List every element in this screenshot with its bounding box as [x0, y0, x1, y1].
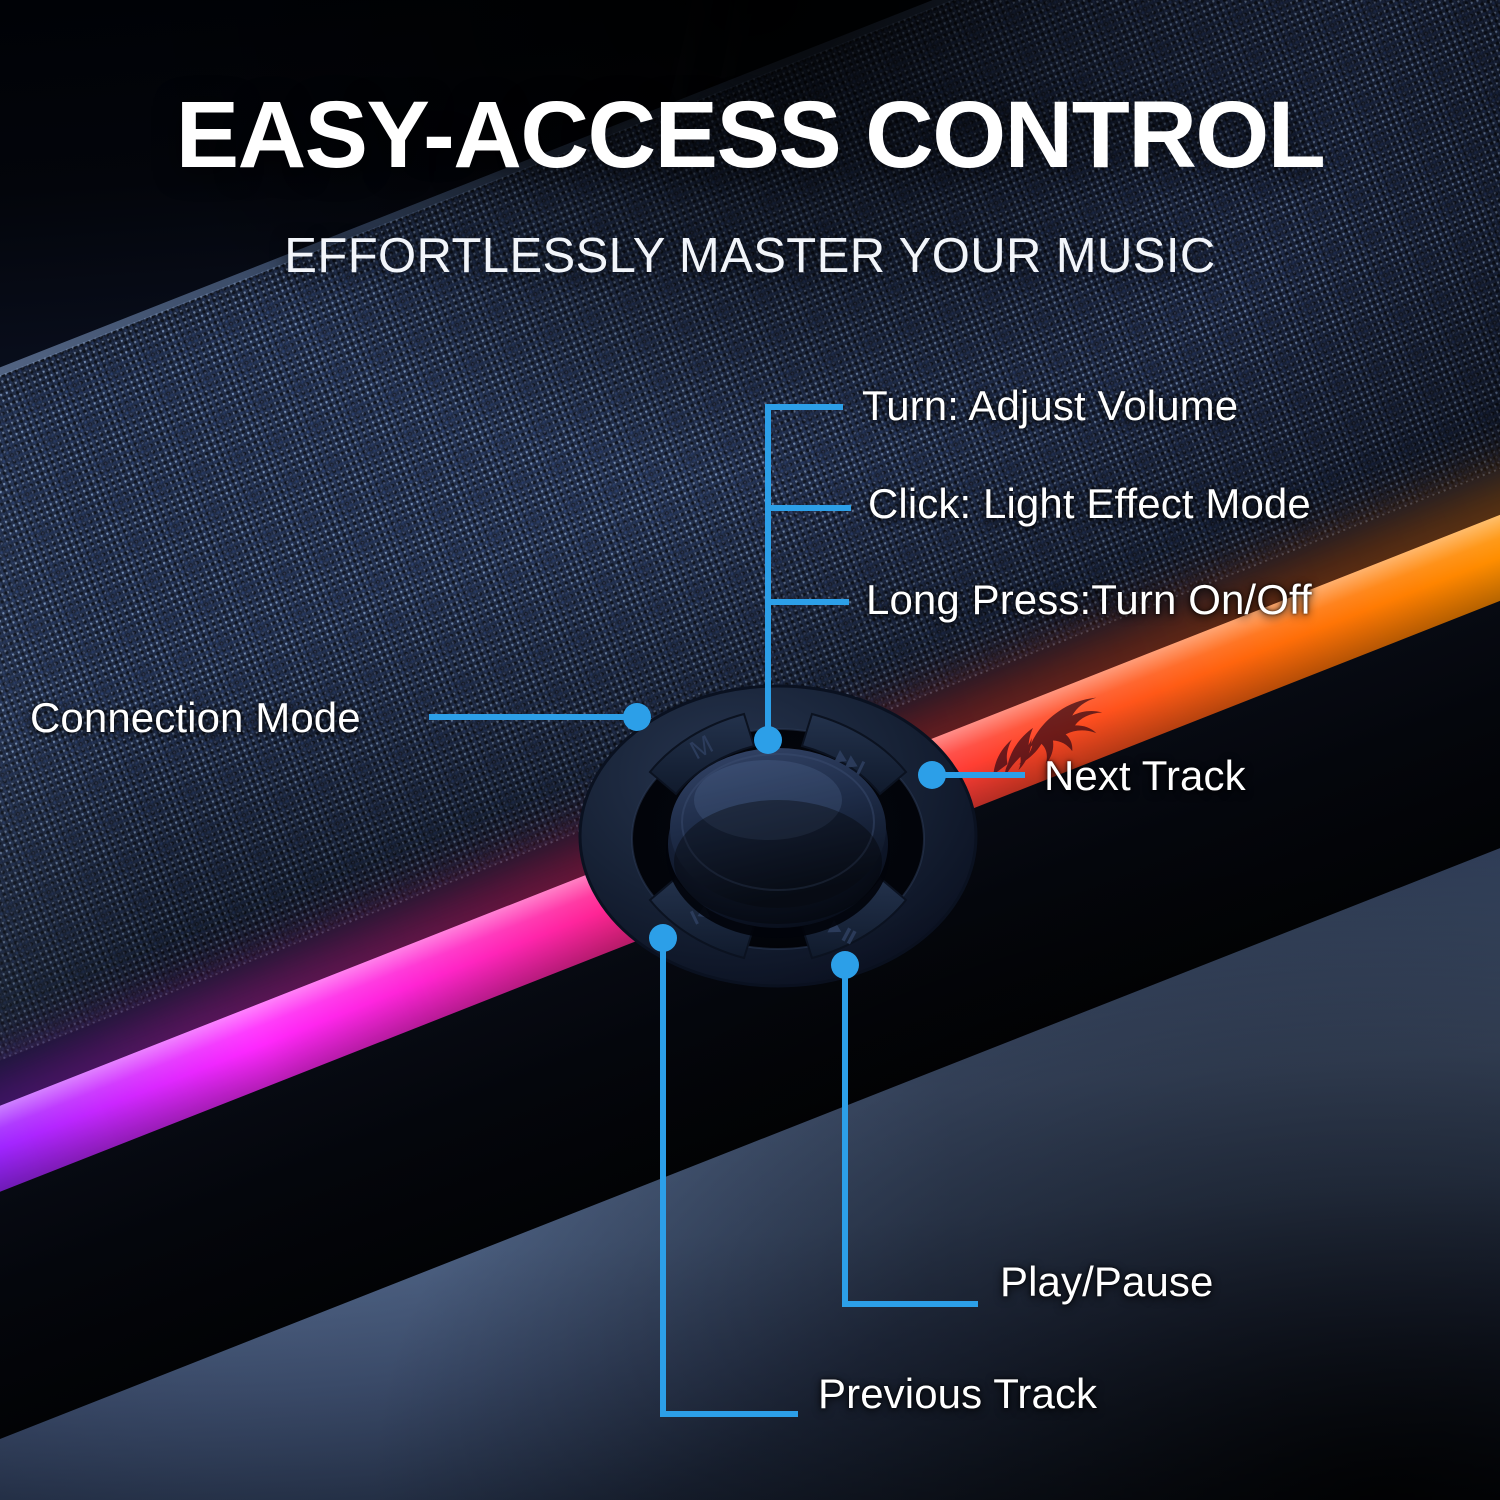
callout-label-next-track: Next Track: [1044, 752, 1246, 800]
callout-label-long-press-turn-on-off: Long Press:Turn On/Off: [866, 576, 1312, 624]
callout-label-connection-mode: Connection Mode: [30, 694, 361, 742]
callout-labels: Turn: Adjust Volume Click: Light Effect …: [0, 0, 1500, 1500]
product-infographic: M: [0, 0, 1500, 1500]
callout-label-play-pause: Play/Pause: [1000, 1258, 1213, 1306]
callout-label-click-light-effect-mode: Click: Light Effect Mode: [868, 480, 1311, 528]
callout-label-previous-track: Previous Track: [818, 1370, 1097, 1418]
callout-label-turn-adjust-volume: Turn: Adjust Volume: [862, 382, 1238, 430]
